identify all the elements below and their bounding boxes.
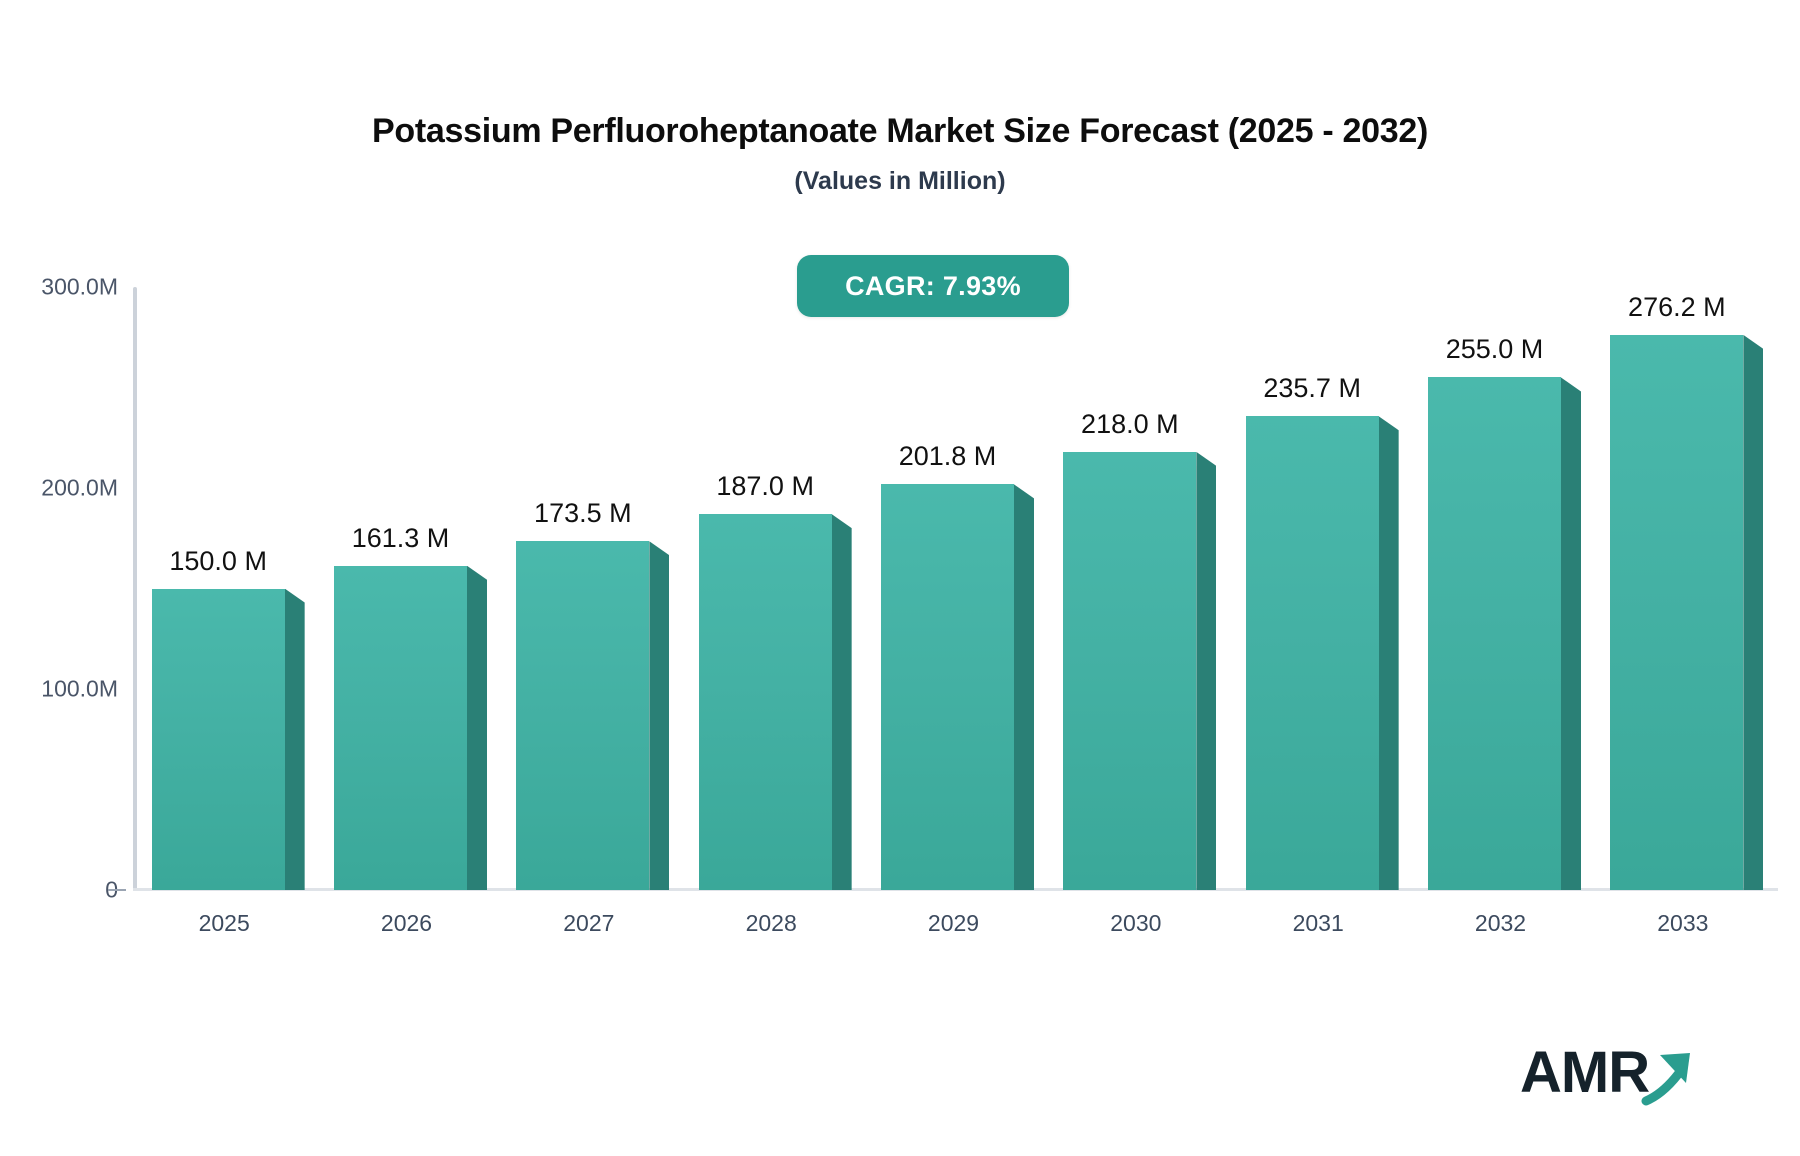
x-axis-tick-label: 2033 — [1657, 910, 1708, 937]
bar-front-face — [1428, 377, 1561, 890]
bar-series: 150.0 M161.3 M173.5 M187.0 M201.8 M218.0… — [137, 287, 1778, 890]
y-axis-tick-label: 100.0M — [41, 676, 118, 703]
bar-2030: 218.0 M — [1063, 452, 1196, 890]
x-axis-tick-label: 2029 — [928, 910, 979, 937]
bar-side-face — [467, 566, 487, 890]
growth-arrow-icon — [1520, 1035, 1700, 1111]
bar-front-face — [1246, 416, 1379, 890]
bar-front-face — [334, 566, 467, 890]
bar-value-label: 276.2 M — [1628, 292, 1726, 323]
chart-title: Potassium Perfluoroheptanoate Market Siz… — [0, 112, 1800, 151]
bar-2026: 161.3 M — [334, 566, 467, 890]
y-axis-tick-mark — [108, 889, 126, 891]
chart-subtitle: (Values in Million) — [0, 167, 1800, 196]
bar-value-label: 173.5 M — [534, 498, 632, 529]
bar-side-face — [1561, 377, 1581, 890]
bar-2029: 201.8 M — [881, 484, 1014, 890]
bar-front-face — [152, 589, 285, 891]
bar-side-face — [1379, 416, 1399, 890]
bar-front-face — [1610, 335, 1743, 890]
bar-side-face — [1743, 335, 1763, 890]
bar-side-face — [1014, 484, 1034, 890]
bar-2027: 173.5 M — [516, 541, 649, 890]
bar-2031: 235.7 M — [1246, 416, 1379, 890]
bar-side-face — [285, 589, 305, 891]
x-axis-tick-label: 2028 — [746, 910, 797, 937]
bar-side-face — [649, 541, 669, 890]
bar-front-face — [516, 541, 649, 890]
bar-2025: 150.0 M — [152, 589, 285, 891]
bar-value-label: 255.0 M — [1446, 334, 1544, 365]
bar-side-face — [1196, 452, 1216, 890]
bar-front-face — [881, 484, 1014, 890]
bar-value-label: 187.0 M — [716, 471, 814, 502]
bar-front-face — [699, 514, 832, 890]
chart-canvas: Potassium Perfluoroheptanoate Market Siz… — [0, 0, 1800, 1156]
x-axis-tick-label: 2031 — [1293, 910, 1344, 937]
bar-side-face — [832, 514, 852, 890]
x-axis-tick-label: 2032 — [1475, 910, 1526, 937]
bar-value-label: 235.7 M — [1263, 373, 1361, 404]
y-axis-tick-label: 300.0M — [41, 274, 118, 301]
y-axis-tick-label: 200.0M — [41, 475, 118, 502]
x-axis-tick-label: 2026 — [381, 910, 432, 937]
x-axis-tick-label: 2025 — [199, 910, 250, 937]
bar-value-label: 218.0 M — [1081, 409, 1179, 440]
x-axis-tick-label: 2030 — [1110, 910, 1161, 937]
bar-value-label: 161.3 M — [352, 523, 450, 554]
bar-value-label: 201.8 M — [899, 441, 997, 472]
bar-front-face — [1063, 452, 1196, 890]
bar-2033: 276.2 M — [1610, 335, 1743, 890]
amr-logo: AMR — [1520, 1035, 1700, 1111]
bar-value-label: 150.0 M — [169, 546, 267, 577]
bar-2028: 187.0 M — [699, 514, 832, 890]
x-axis-tick-label: 2027 — [563, 910, 614, 937]
y-axis-ticks: 0100.0M200.0M300.0M — [0, 287, 118, 890]
bar-2032: 255.0 M — [1428, 377, 1561, 890]
